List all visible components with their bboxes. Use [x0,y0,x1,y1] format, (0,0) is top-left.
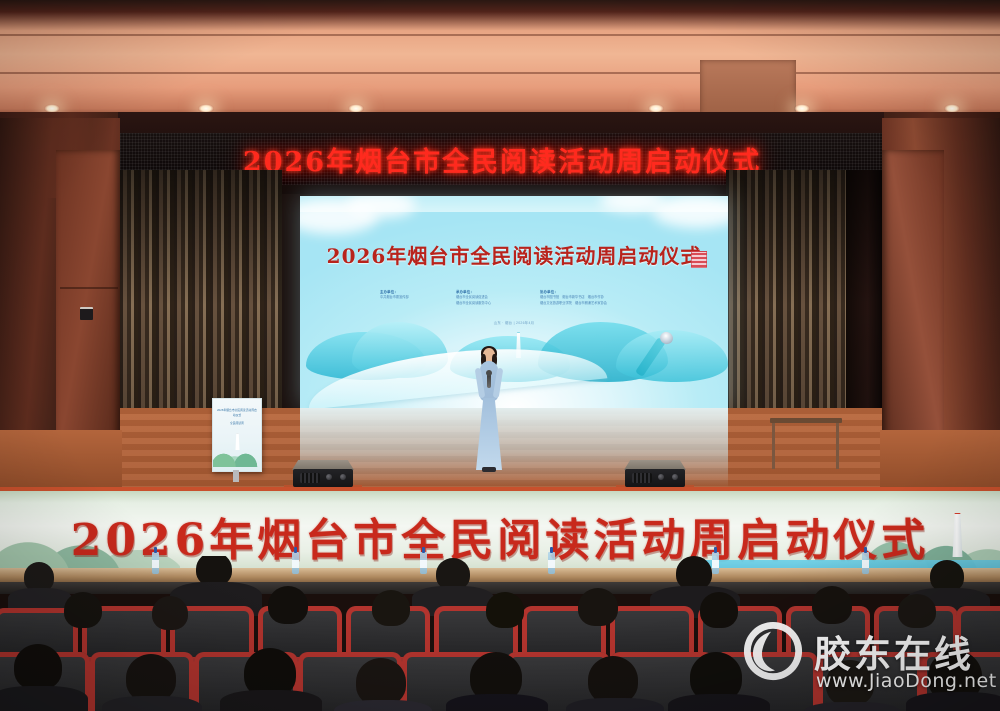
stage-floor-right-apron [880,430,1000,494]
side-table-leg [836,423,839,469]
monitor-knob [672,474,678,480]
audience-head [812,586,852,624]
screen-date-line: 山东 · 烟台 | 2026年4月 [300,320,728,325]
poster-mountain-art [213,445,261,467]
audience-head [372,590,410,626]
organizer-line: 烟台市全民阅读促进会 [456,295,491,301]
presenter-gown [476,398,502,470]
ceiling-seam [0,72,1000,74]
monitor-knob [340,474,346,480]
poster-title: 2026年烟台市全民阅读活动周启动仪式 [217,408,257,419]
led-ticker-text: 2026年烟台市全民阅读活动周启动仪式 [243,140,761,179]
microphone-icon [487,374,491,388]
monitor-knob [658,474,664,480]
screen-title: 2026年烟台市全民阅读活动周启动仪式 [300,240,728,269]
audience-seating [0,556,1000,711]
audience-head [486,592,524,628]
audience-head [356,658,406,706]
red-seal-icon [691,251,707,268]
audience-shoulders [220,690,322,711]
audience-shoulders [906,692,1000,711]
organizer-line: 烟台市全民阅读服务中心 [456,301,491,307]
poster-board-stand [233,470,239,482]
presenter [472,348,506,474]
auditorium-photo: 2026年烟台市全民阅读活动周启动仪式 2026年烟台市全民阅读活动周启动仪式 … [0,0,1000,711]
monitor-knob [326,474,332,480]
poster-subtitle: 全民阅读周 [217,421,257,426]
audience-head [64,592,102,628]
side-table-top [770,418,842,423]
organizer-line: 中共烟台市委宣传部 [380,295,409,301]
audience-shoulders [804,702,900,711]
side-table-leg [772,423,775,469]
wall-mounted-device [80,307,93,320]
audience-head [826,660,874,706]
audience-head [898,594,936,628]
side-table [770,418,842,470]
audience-shoulders [668,694,770,711]
monitor-grill [300,473,320,483]
audience-head [588,656,638,704]
audience-shoulders [334,700,432,711]
ceiling-seam [0,34,1000,36]
audience-head [268,586,308,624]
organizer-column-coorganizer: 承办单位： 烟台市全民阅读促进会 烟台市全民阅读服务中心 [456,290,491,306]
monitor-grill [632,473,652,483]
audience-shoulders [0,686,88,711]
audience-head [578,588,618,626]
audience-shoulders [566,698,664,711]
organizer-column-host: 主办单位： 中共烟台市委宣传部 [380,290,409,301]
audience-head [700,592,738,628]
stage-monitor-right [624,460,686,487]
audience-head [126,654,176,702]
audience-shoulders [102,696,202,711]
stage-floor-left-apron [0,430,122,494]
audience-head [14,644,62,690]
organizer-line: 烟台文化旅游职业学院 烟台市朗诵艺术家协会 [540,301,607,307]
audience-shoulders [446,694,548,711]
organizer-line: 烟台市图书馆 烟台市新华书店 烟台市作协 [540,295,607,301]
ceiling-vent [700,60,796,118]
audience-head [152,596,188,630]
ceiling-panels [0,0,1000,118]
poster-board: 2026年烟台市全民阅读活动周启动仪式 全民阅读周 [212,398,262,472]
wall-panel-seam [60,287,118,289]
presenter-shoes [482,467,496,472]
organizer-column-supporter: 协办单位： 烟台市图书馆 烟台市新华书店 烟台市作协 烟台文化旅游职业学院 烟台… [540,290,607,306]
audience-head [676,556,712,590]
stage-monitor-left [292,460,354,487]
